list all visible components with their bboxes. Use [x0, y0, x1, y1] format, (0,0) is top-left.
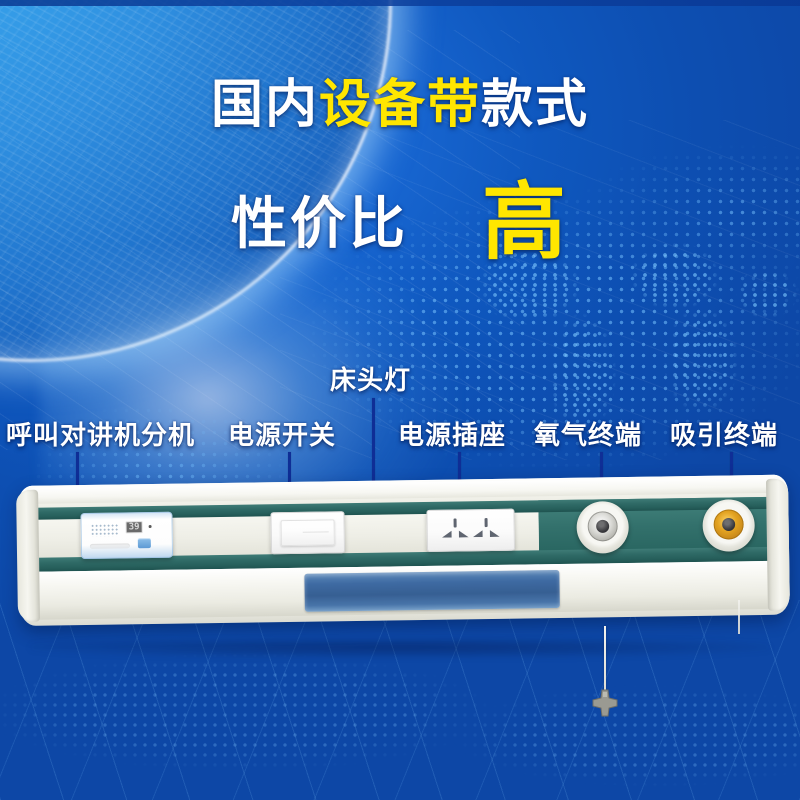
headline-line-1: 国内设备带款式 — [0, 78, 800, 133]
unit-right-end-cap — [766, 479, 790, 611]
socket-pin-vertical-icon — [485, 518, 488, 527]
poster-stage: 国内设备带款式 性价比高 呼叫对讲机分机 电源开关 床头灯 电源插座 氧气终端 … — [0, 0, 800, 800]
callout-label-bed-light: 床头灯 — [330, 360, 411, 397]
bed-light-diffuser[interactable] — [304, 570, 560, 612]
headline-text-kuanshi: 款式 — [481, 76, 589, 134]
bed-head-unit: 39 — [18, 486, 788, 646]
top-edge-strip — [0, 0, 800, 6]
socket-outlet-right[interactable] — [472, 518, 502, 542]
socket-pin-left-icon — [473, 530, 483, 537]
intercom-display: 39 — [126, 521, 143, 533]
socket-pin-right-icon — [459, 530, 469, 537]
headline-text-shebeidai: 设备带 — [319, 76, 481, 134]
power-socket[interactable] — [426, 509, 515, 552]
headline-text-guonei: 国内 — [211, 76, 319, 134]
intercom-handset[interactable]: 39 — [80, 512, 173, 559]
socket-pin-right-icon — [490, 530, 500, 537]
callout-label-power-switch: 电源开关 — [228, 415, 336, 452]
status-led-icon — [149, 525, 152, 528]
callout-label-intercom: 呼叫对讲机分机 — [6, 415, 195, 452]
socket-outlet-left[interactable] — [441, 518, 471, 542]
callout-label-power-socket: 电源插座 — [398, 415, 506, 452]
intercom-handle-slot — [90, 543, 130, 549]
callout-label-suction-terminal: 吸引终端 — [670, 415, 778, 452]
headline-text-xingjiabi: 性价比 — [231, 192, 408, 255]
headline-line-2: 性价比高 — [0, 155, 800, 276]
pull-cord[interactable] — [604, 626, 606, 694]
switch-groove-line — [303, 531, 329, 532]
intercom-call-button[interactable] — [138, 538, 151, 548]
pull-cord-secondary — [738, 600, 740, 634]
suction-terminal-port-icon — [722, 518, 735, 531]
power-switch[interactable] — [270, 511, 345, 554]
callout-label-oxygen-terminal: 氧气终端 — [534, 415, 642, 452]
socket-pin-left-icon — [442, 531, 452, 538]
speaker-grille-icon — [91, 524, 119, 537]
headline-text-gao: 高 — [482, 175, 569, 269]
unit-left-end-cap — [16, 490, 40, 622]
pull-cord-weight-icon[interactable] — [589, 688, 621, 718]
oxygen-terminal-port-icon — [596, 520, 609, 533]
switch-rocker[interactable] — [281, 519, 335, 546]
headline-block: 国内设备带款式 性价比高 — [0, 78, 800, 276]
socket-pin-vertical-icon — [454, 518, 457, 527]
